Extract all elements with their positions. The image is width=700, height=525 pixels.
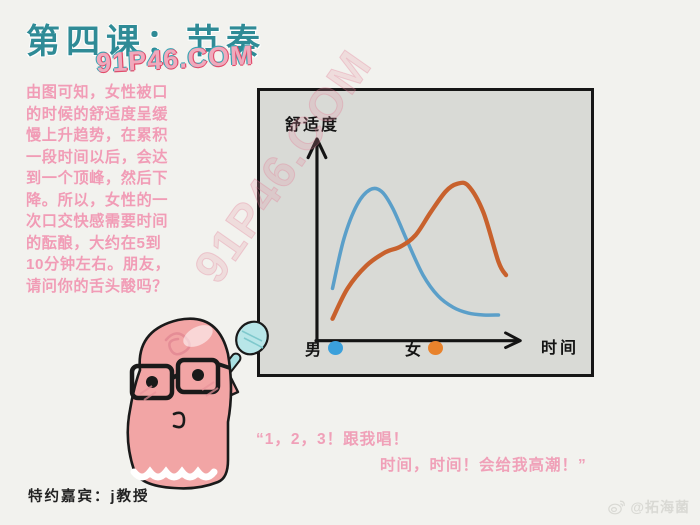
quote-line-2: 时间，时间！会给我高潮！” (380, 453, 587, 475)
legend-label-female: 女 (405, 336, 421, 360)
legend-item-male: 男 (305, 336, 343, 360)
series-line-male (333, 188, 499, 315)
screenshot-canvas: 舒适度 时间 男 女 91P46.COM 第四课：节奏 91P46.COM 由图… (0, 0, 700, 525)
y-axis (308, 139, 326, 341)
legend-dot-male (328, 341, 343, 355)
quote-line-1: “1，2，3！跟我唱！ (256, 427, 409, 449)
corner-watermark-handle: @拓海菌 (630, 497, 690, 517)
chart-y-axis-label: 舒适度 (285, 111, 339, 135)
chart-x-axis-label: 时间 (541, 334, 579, 358)
guest-caption: 特约嘉宾：j教授 (28, 485, 150, 506)
body-paragraph: 由图可知，女性被口 的时候的舒适度呈缓 慢上升趋势，在累积 一段时间以后，会达 … (26, 82, 238, 297)
corner-watermark: @拓海菌 (608, 497, 690, 517)
mascot-svg (78, 310, 308, 510)
legend-item-female: 女 (405, 336, 443, 360)
weibo-icon (608, 499, 626, 515)
mascot-figure (78, 310, 308, 510)
legend-dot-female (428, 341, 443, 355)
